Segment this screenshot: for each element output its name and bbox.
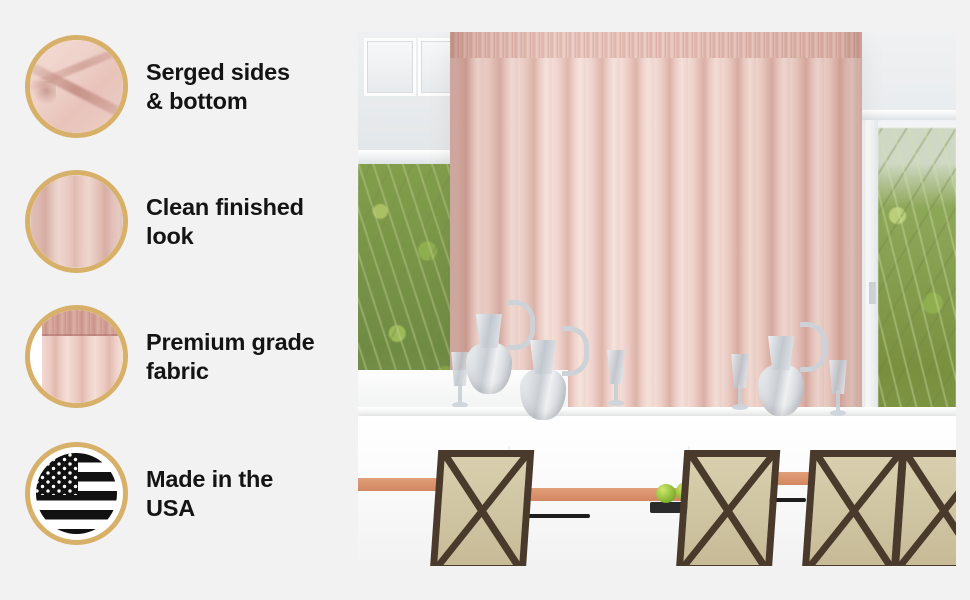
fabric-texture-1 bbox=[30, 40, 123, 133]
feature-label-2-line1: Clean finished bbox=[146, 193, 304, 222]
pitcher-neck bbox=[530, 340, 556, 374]
door-hinge-upper bbox=[869, 282, 876, 304]
badge-image-2 bbox=[30, 175, 123, 268]
silver-pitcher bbox=[758, 324, 824, 416]
feature-label-3: Premium grade fabric bbox=[146, 328, 315, 385]
feature-label-3-line1: Premium grade bbox=[146, 328, 315, 357]
feature-list: Serged sides & bottom Clean finished loo… bbox=[0, 0, 340, 600]
pink-curtain-backdrop-banquet-photo bbox=[358, 32, 956, 566]
window-pane-left bbox=[364, 38, 416, 96]
feature-label-1-line1: Serged sides bbox=[146, 58, 290, 87]
feature-label-4-line2: USA bbox=[146, 494, 273, 523]
cross-back-chair bbox=[680, 450, 776, 566]
feature-label-2-line2: look bbox=[146, 222, 304, 251]
chair-frame bbox=[430, 450, 535, 566]
glass-foot bbox=[732, 404, 748, 410]
feature-label-1: Serged sides & bottom bbox=[146, 58, 290, 115]
fabric-texture-2 bbox=[30, 175, 123, 268]
feature-label-4: Made in the USA bbox=[146, 465, 273, 522]
rod-pocket-curtain-icon bbox=[25, 305, 128, 408]
badge-image-3 bbox=[30, 310, 123, 403]
usa-flag-roundel-icon bbox=[25, 442, 128, 545]
feature-item-clean-finish: Clean finished look bbox=[25, 170, 304, 273]
rod-pocket-detail bbox=[42, 310, 123, 336]
cross-back-chair bbox=[434, 450, 530, 566]
pitcher-handle bbox=[800, 322, 827, 372]
fabric-texture-3 bbox=[30, 310, 123, 403]
glass-stem bbox=[738, 385, 742, 405]
chair-frame bbox=[802, 450, 907, 566]
badge-image-1 bbox=[30, 40, 123, 133]
cross-back-chair bbox=[896, 450, 956, 566]
flag-graphic bbox=[36, 453, 117, 534]
chair-frame bbox=[892, 450, 956, 566]
cross-back-chair bbox=[806, 450, 902, 566]
glass-stem bbox=[836, 391, 840, 411]
feature-label-2: Clean finished look bbox=[146, 193, 304, 250]
banquet-table-edge bbox=[358, 407, 956, 416]
apple bbox=[656, 484, 676, 503]
feature-item-serged-sides: Serged sides & bottom bbox=[25, 35, 290, 138]
folded-fabric-corner-icon bbox=[25, 35, 128, 138]
pitcher-handle bbox=[562, 326, 589, 376]
feature-item-made-in-usa: Made in the USA bbox=[25, 442, 273, 545]
serged-corner-detail bbox=[32, 81, 56, 105]
infographic-page: Serged sides & bottom Clean finished loo… bbox=[0, 0, 970, 600]
glass-foot bbox=[830, 410, 846, 416]
draped-fabric-swatch-icon bbox=[25, 170, 128, 273]
feature-label-3-line2: fabric bbox=[146, 357, 315, 386]
pitcher-body bbox=[466, 342, 512, 394]
pen bbox=[524, 514, 590, 518]
door-header bbox=[852, 110, 956, 120]
flag-stars bbox=[36, 453, 78, 495]
pitcher-neck bbox=[476, 314, 502, 348]
glass-stem bbox=[614, 381, 618, 401]
silver-pitcher bbox=[520, 324, 590, 420]
pitcher-body bbox=[758, 364, 804, 416]
glass-stem bbox=[458, 383, 462, 403]
glass-foot bbox=[608, 400, 624, 406]
chair-frame bbox=[676, 450, 781, 566]
feature-item-premium-fabric: Premium grade fabric bbox=[25, 305, 315, 408]
pitcher-body bbox=[520, 368, 566, 420]
feature-label-1-line2: & bottom bbox=[146, 87, 290, 116]
pitcher-neck bbox=[768, 336, 794, 370]
feature-label-4-line1: Made in the bbox=[146, 465, 273, 494]
